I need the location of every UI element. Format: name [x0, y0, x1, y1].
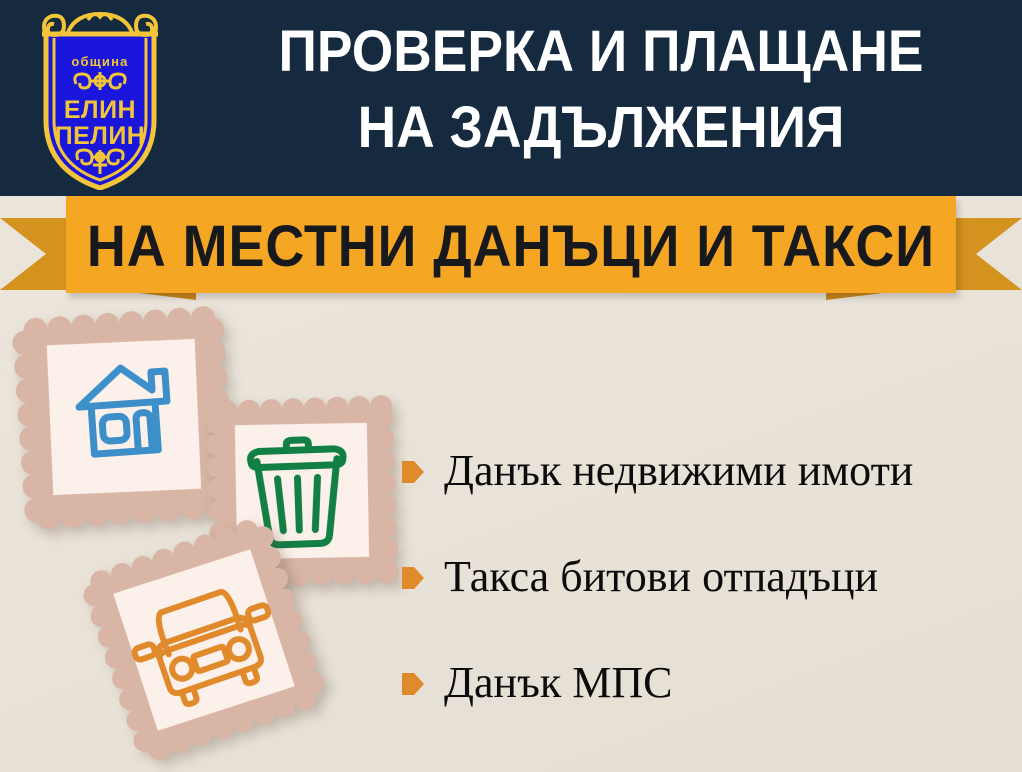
- list-item-label: Такса битови отпадъци: [444, 552, 878, 602]
- ribbon-center-band: НА МЕСТНИ ДАНЪЦИ И ТАКСИ: [66, 196, 956, 293]
- arrow-bullet-icon: [402, 459, 424, 485]
- page-title-line-2: НА ЗАДЪЛЖЕНИЯ: [223, 90, 979, 166]
- arrow-bullet-icon: [402, 671, 424, 697]
- arrow-bullet-icon: [402, 565, 424, 591]
- logo-text-pelin: ПЕЛИН: [55, 122, 146, 150]
- page-title-line-1: ПРОВЕРКА И ПЛАЩАНЕ: [223, 14, 979, 90]
- list-item[interactable]: Данък МПС: [402, 630, 1012, 736]
- logo-text-elin: ЕЛИН: [64, 96, 136, 124]
- municipality-logo: община ЕЛИН ПЕЛИН: [24, 8, 176, 190]
- list-item[interactable]: Данък недвижими имоти: [402, 418, 1012, 524]
- tax-type-list: Данък недвижими имоти Такса битови отпад…: [402, 418, 1012, 736]
- list-item[interactable]: Такса битови отпадъци: [402, 524, 1012, 630]
- list-item-label: Данък МПС: [444, 658, 672, 708]
- ribbon-banner: НА МЕСТНИ ДАНЪЦИ И ТАКСИ: [0, 196, 1022, 304]
- stamp-property: [11, 305, 237, 531]
- coat-of-arms-icon: община ЕЛИН ПЕЛИН: [24, 8, 176, 190]
- page-title: ПРОВЕРКА И ПЛАЩАНЕ НА ЗАДЪЛЖЕНИЯ: [223, 14, 979, 166]
- list-item-label: Данък недвижими имоти: [444, 446, 913, 496]
- poster-canvas: ПРОВЕРКА И ПЛАЩАНЕ НА ЗАДЪЛЖЕНИЯ община: [0, 0, 1022, 772]
- logo-text-obshtina: община: [71, 54, 128, 69]
- ribbon-label: НА МЕСТНИ ДАНЪЦИ И ТАКСИ: [87, 214, 935, 276]
